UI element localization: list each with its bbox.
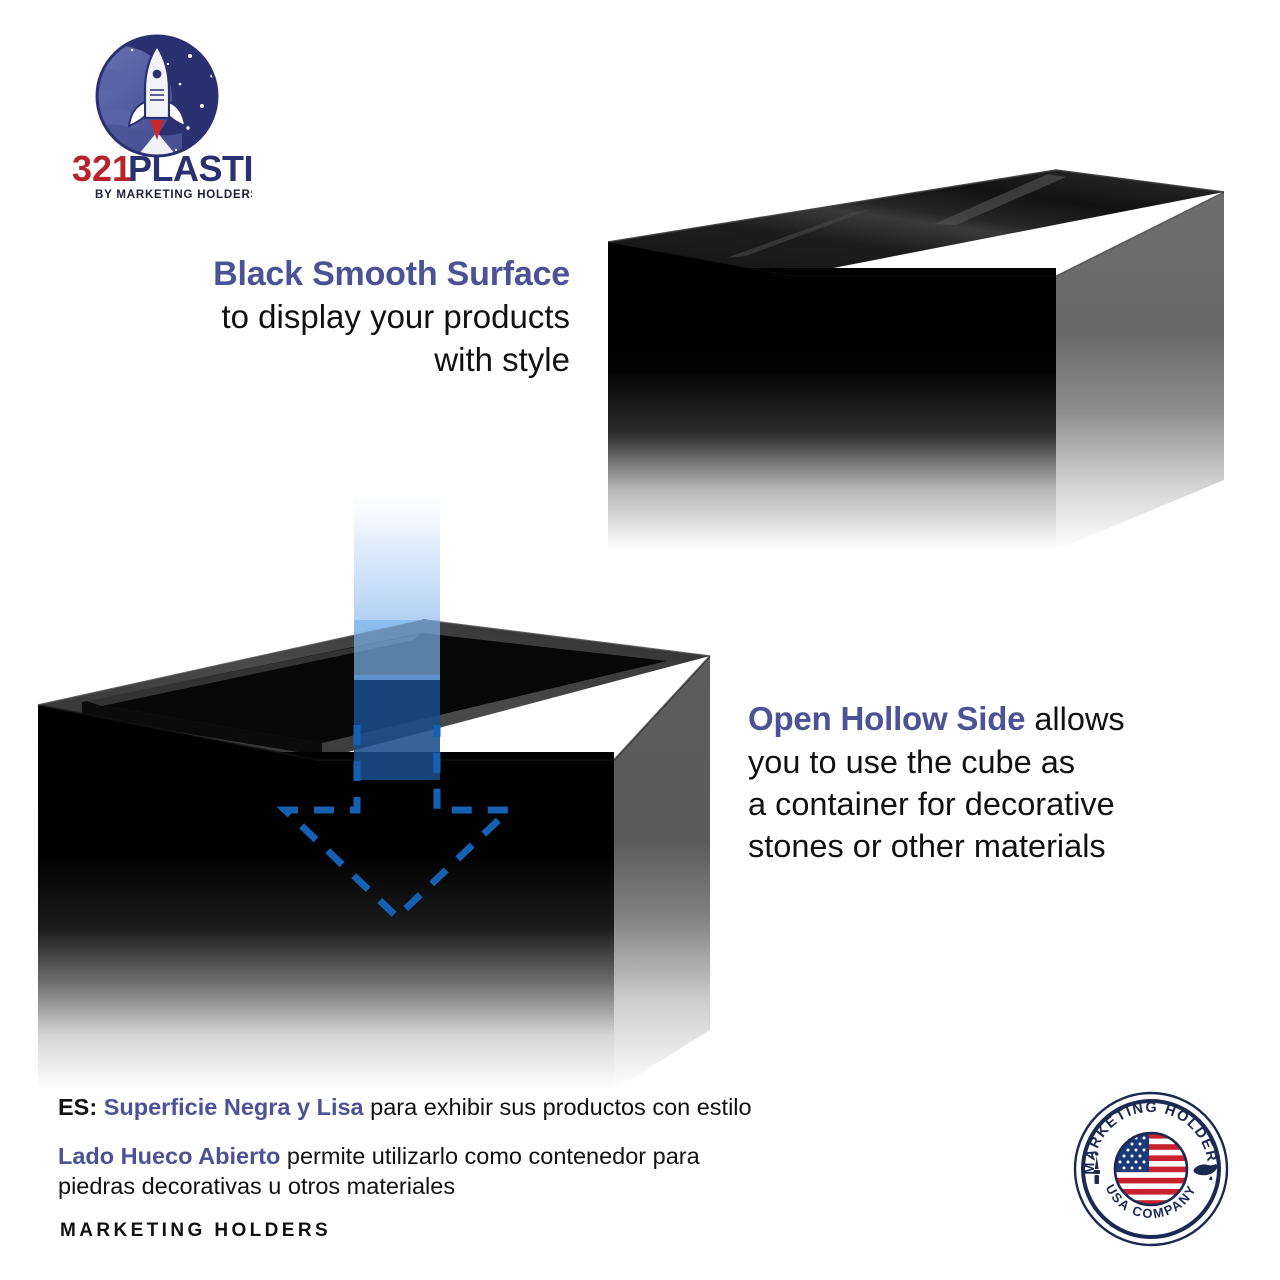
callout-bottom-line3: a container for decorative	[748, 786, 1115, 822]
callout-black-smooth-surface: Black Smooth Surface to display your pro…	[110, 252, 570, 382]
callout-top-line1: to display your products	[221, 298, 570, 335]
light-beam-interior	[354, 675, 440, 780]
usa-company-badge: MARKETING HOLDERS USA COMPANY	[1072, 1090, 1230, 1248]
spanish-line-2: Lado Hueco Abierto permite utilizarlo co…	[58, 1141, 888, 1202]
spanish-prefix: ES:	[58, 1094, 97, 1120]
logo-number: 321	[72, 148, 132, 189]
spanish-line1-rest: para exhibir sus productos con estilo	[370, 1094, 751, 1120]
cube-right-face	[1056, 192, 1224, 550]
spanish-line2-rest-b: piedras decorativas u otros materiales	[58, 1171, 888, 1202]
footer-brand-marketing-holders: MARKETING HOLDERS	[60, 1220, 331, 1242]
black-acrylic-cube-open-hollow	[22, 470, 732, 1090]
spanish-line-1: ES: Superficie Negra y Lisa para exhibir…	[58, 1092, 888, 1123]
callout-bottom-line2: you to use the cube as	[748, 744, 1075, 780]
callout-bottom-headline: Open Hollow Side	[748, 700, 1025, 737]
spanish-translation-block: ES: Superficie Negra y Lisa para exhibir…	[58, 1092, 888, 1202]
callout-top-line2: with style	[434, 341, 570, 378]
cube-right-face-open	[614, 656, 710, 1090]
logo-word: PLASTICS	[128, 148, 252, 189]
spanish-line2-highlight: Lado Hueco Abierto	[58, 1143, 280, 1169]
callout-open-hollow-side: Open Hollow Side allows you to use the c…	[748, 698, 1200, 868]
infographic-canvas: 321 PLASTICS BY MARKETING HOLDERS	[0, 0, 1280, 1280]
callout-bottom-line4: stones or other materials	[748, 828, 1106, 864]
spanish-line1-highlight: Superficie Negra y Lisa	[104, 1094, 364, 1120]
cube-front-face-open	[38, 705, 614, 1090]
logo-tagline: BY MARKETING HOLDERS	[95, 189, 252, 201]
callout-bottom-line1: allows	[1034, 701, 1124, 737]
usa-map-glyph	[1194, 1164, 1218, 1180]
spanish-line2-rest-a: permite utilizarlo como contenedor para	[287, 1143, 700, 1169]
callout-top-headline: Black Smooth Surface	[213, 255, 570, 293]
321plastics-logo: 321 PLASTICS BY MARKETING HOLDERS	[62, 28, 252, 208]
